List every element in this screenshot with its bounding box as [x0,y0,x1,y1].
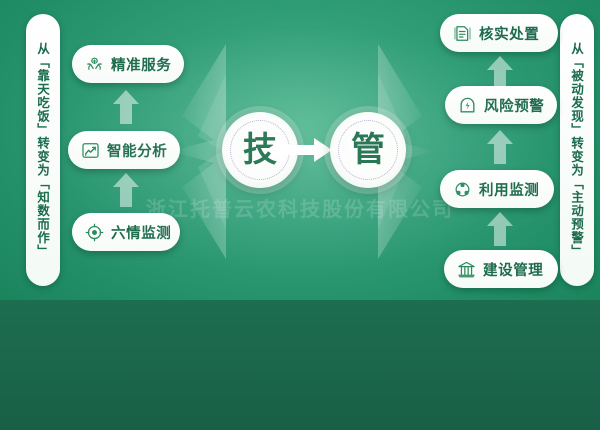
up-arrow-icon [487,130,513,164]
card-risk-warning[interactable]: 风险预警 [445,86,557,124]
top-panel: 浙江托普云农科技股份有限公司 从「靠天吃饭」转变为「知数而作」 从「被动发现」转… [0,0,600,300]
chart-trend-icon [81,141,100,160]
core-circle-management: 管 [330,112,406,188]
banner-left-text: 从「靠天吃饭」转变为「知数而作」 [35,42,50,258]
card-utilization-monitoring[interactable]: 利用监测 [440,170,554,208]
card-label: 核实处置 [479,23,539,44]
document-check-icon [453,24,472,43]
card-precision-service[interactable]: 精准服务 [72,45,184,83]
infographic-canvas: 浙江托普云农科技股份有限公司 从「靠天吃饭」转变为「知数而作」 从「被动发现」转… [0,0,600,430]
up-arrow-icon [487,56,513,90]
up-arrow-icon [487,212,513,246]
up-arrow-icon [113,173,139,207]
bank-building-icon [457,260,476,279]
card-label: 智能分析 [107,140,167,161]
core-glyph: 管 [351,133,385,167]
card-label: 利用监测 [479,179,539,200]
banner-right-text: 从「被动发现」转变为「主动预警」 [569,42,584,258]
card-label: 风险预警 [484,95,544,116]
banner-right: 从「被动发现」转变为「主动预警」 [560,14,594,286]
card-label: 建设管理 [483,259,543,280]
network-node-icon [453,180,472,199]
card-construction-management[interactable]: 建设管理 [444,250,558,288]
card-intelligent-analysis[interactable]: 智能分析 [68,131,180,169]
card-label: 精准服务 [111,54,171,75]
double-arrow-icon [266,135,332,165]
bottom-band: 统筹管理农田资源 监管部门 集中管理 管理分散型 高效管护农田设施 运维单位 主… [0,300,600,430]
card-verify-disposal[interactable]: 核实处置 [440,14,558,52]
banner-left: 从「靠天吃饭」转变为「知数而作」 [26,14,60,286]
card-label: 六情监测 [111,222,171,243]
hands-sprout-icon [85,55,104,74]
card-six-condition-monitoring[interactable]: 六情监测 [72,213,180,251]
up-arrow-icon [113,90,139,124]
target-monitor-icon [85,223,104,242]
warning-shield-icon [458,96,477,115]
